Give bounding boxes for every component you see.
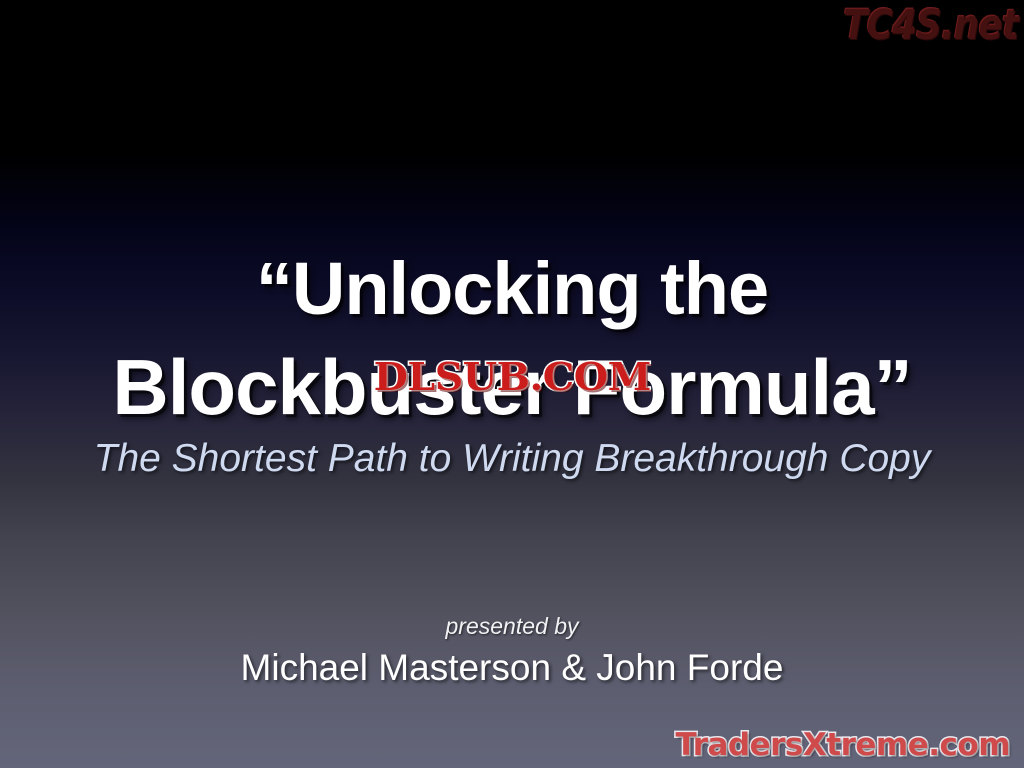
- title-line-2: Blockbuster Formula”: [0, 338, 1024, 436]
- title-slide: TC4S.net “Unlocking the Blockbuster Form…: [0, 0, 1024, 768]
- presenter-block: presented by Michael Masterson & John Fo…: [0, 612, 1024, 690]
- presented-by-label: presented by: [0, 612, 1024, 640]
- watermark-tc4s: TC4S.net: [843, 2, 1018, 49]
- title-line-1: “Unlocking the: [0, 240, 1024, 338]
- presenter-names: Michael Masterson & John Forde: [0, 646, 1024, 690]
- slide-title: “Unlocking the Blockbuster Formula”: [0, 240, 1024, 436]
- watermark-tradersxtreme: TradersXtreme.com: [675, 726, 1010, 764]
- slide-subtitle: The Shortest Path to Writing Breakthroug…: [0, 437, 1024, 481]
